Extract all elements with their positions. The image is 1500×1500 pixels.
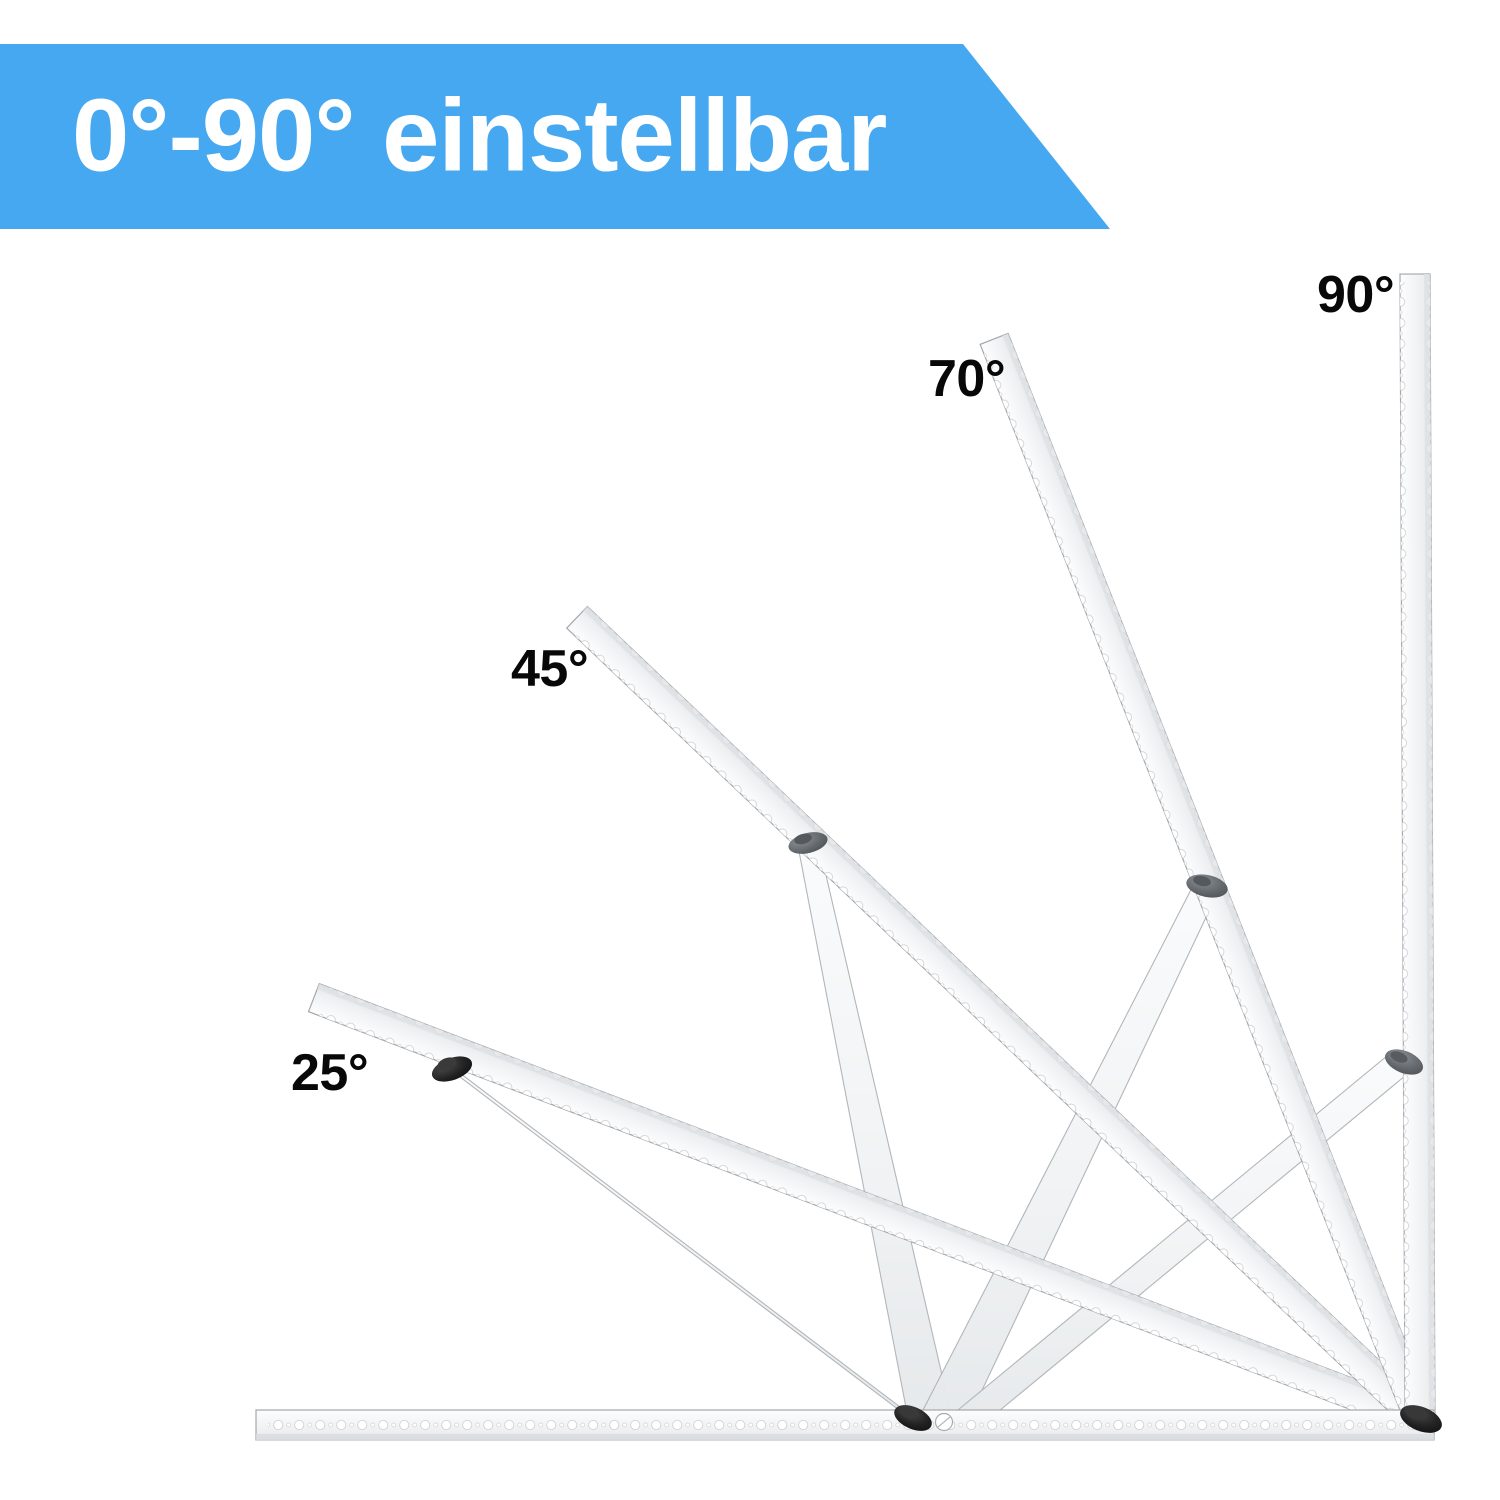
angle-label-45: 45° [511,643,588,695]
support-struts [444,841,1411,1430]
base-rail [256,1410,1434,1441]
strut-25 [444,1061,920,1426]
rail-90 [1400,274,1435,1426]
angle-label-70: 70° [928,353,1005,405]
banner-headline: 0°-90° einstellbar [72,83,886,186]
strut-45 [797,841,952,1418]
infographic-canvas: 0°-90° einstellbar [0,0,1500,1500]
headline-banner: 0°-90° einstellbar [0,44,1110,229]
angle-label-90: 90° [1317,269,1394,321]
angle-label-25: 25° [291,1047,368,1099]
angled-rails [309,274,1437,1436]
